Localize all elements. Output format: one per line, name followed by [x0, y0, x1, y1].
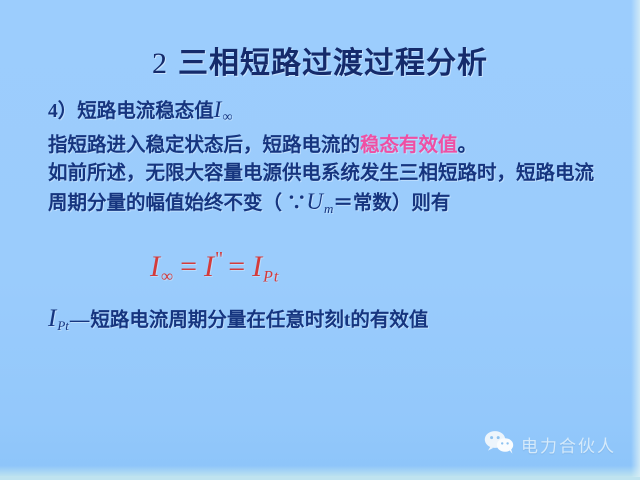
- equation-steady-state-current: I∞=I"=IPt: [150, 248, 279, 287]
- body-item-text: 短路电流稳态值: [77, 101, 214, 122]
- equation-rhs-sub: Pt: [263, 269, 279, 286]
- equation-lhs-base: I: [150, 250, 161, 283]
- equation-equals-2: =: [222, 250, 252, 283]
- because-icon: ∵: [287, 193, 307, 214]
- wechat-icon: [484, 430, 514, 459]
- symbol-i-infinity: I∞: [214, 97, 233, 122]
- body-sentence-1-after: 。: [458, 135, 478, 156]
- equation-rhs-base: I: [252, 250, 263, 283]
- equation-mid: I": [204, 250, 222, 283]
- body-item-heading: 4）短路电流稳态值I∞: [48, 96, 608, 132]
- equation-rhs: IPt: [252, 250, 279, 283]
- equation-lhs: I∞: [150, 250, 174, 283]
- bottom-strip: [0, 476, 640, 480]
- page-title-text: 三相短路过渡过程分析: [178, 47, 488, 80]
- symbol-u-m: Um: [306, 189, 333, 214]
- page-title-number: 2: [152, 47, 178, 80]
- equation-lhs-sub: ∞: [161, 266, 174, 285]
- body-sentence-2-part2: ＝常数）则有: [333, 193, 450, 214]
- slide-canvas: 2三相短路过渡过程分析 4）短路电流稳态值I∞ 指短路进入稳定状态后，短路电流的…: [0, 0, 640, 480]
- definition-dash: —: [69, 310, 91, 331]
- body-sentence-1-before: 指短路进入稳定状态后，短路电流的: [48, 135, 360, 156]
- body-sentence-2: 如前所述，无限大容量电源供电系统发生三相短路时，短路电流周期分量的幅值始终不变（…: [48, 160, 604, 223]
- symbol-u-m-sub: m: [323, 201, 333, 216]
- body-item-marker: 4）: [48, 101, 77, 122]
- body-sentence-1: 指短路进入稳定状态后，短路电流的稳态有效值。: [48, 132, 608, 160]
- equation-equals-1: =: [174, 250, 204, 283]
- equation-mid-base: I: [204, 250, 215, 283]
- symbol-i-pt: IPt: [48, 305, 69, 332]
- definition-text: 短路电流周期分量在任意时刻t的有效值: [90, 310, 428, 331]
- body-sentence-1-highlight: 稳态有效值: [360, 135, 458, 156]
- symbol-i-pt-sub: Pt: [56, 318, 69, 333]
- watermark-label: 电力合伙人: [521, 432, 616, 457]
- slide-body: 4）短路电流稳态值I∞ 指短路进入稳定状态后，短路电流的稳态有效值。 如前所述，…: [48, 96, 608, 223]
- symbol-u-m-base: U: [306, 189, 323, 214]
- definition-line: IPt—短路电流周期分量在任意时刻t的有效值: [48, 303, 428, 334]
- page-title: 2三相短路过渡过程分析: [0, 38, 640, 82]
- watermark: 电力合伙人: [484, 430, 616, 459]
- symbol-i-infinity-sub: ∞: [221, 110, 232, 125]
